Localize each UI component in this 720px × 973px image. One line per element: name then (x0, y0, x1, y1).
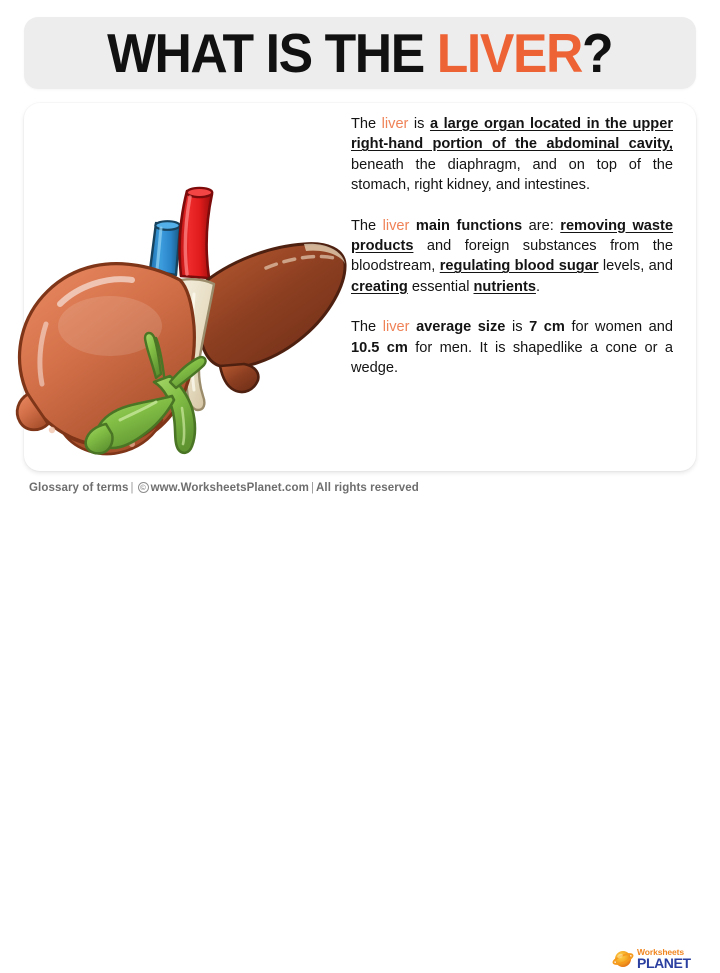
p1-s3: beneath the diaphragm, and on top of the… (351, 157, 673, 193)
p2-keyword-liver: liver (383, 218, 410, 234)
p1-s2: is (408, 116, 430, 132)
paragraph-size: The liver average size is 7 cm for women… (351, 317, 673, 378)
title-part-plain-1: WHAT IS THE (107, 22, 437, 84)
p2-underlined-nutrients: nutrients (474, 279, 536, 295)
content-card: The liver is a large organ located in th… (24, 103, 696, 471)
logo-word-worksheets: Worksheets (637, 948, 691, 957)
title-banner: WHAT IS THE LIVER? (24, 17, 696, 89)
p2-s6: essential (408, 279, 474, 295)
footer: Glossary of terms|©www.WorksheetsPlanet.… (0, 471, 720, 509)
portal-vein-icon (150, 221, 180, 275)
title-part-accent: LIVER (437, 22, 582, 84)
paragraph-functions: The liver main functions are: removing w… (351, 216, 673, 298)
p3-s4: for women and (565, 319, 673, 335)
p1-s1: The (351, 116, 382, 132)
footer-separator-1: | (129, 482, 136, 494)
footer-website[interactable]: www.WorksheetsPlanet.com (151, 482, 309, 494)
page-title: WHAT IS THE LIVER? (107, 26, 612, 81)
p2-s7: . (536, 279, 540, 295)
footer-glossary-label: Glossary of terms (29, 482, 129, 494)
p3-s1: The (351, 319, 383, 335)
p2-underlined-regulating-sugar: regulating blood sugar (440, 258, 599, 274)
p2-bold-main-functions: main functions (416, 218, 522, 234)
p3-s3: is (505, 319, 529, 335)
right-lobe (197, 244, 345, 392)
p3-bold-men-size: 10.5 cm (351, 340, 408, 356)
p3-keyword-liver: liver (383, 319, 410, 335)
description-text-column: The liver is a large organ located in th… (351, 114, 673, 378)
p3-bold-women-size: 7 cm (529, 319, 565, 335)
p2-underlined-creating: creating (351, 279, 408, 295)
logo-wordmark: Worksheets PLANET (637, 948, 691, 971)
p2-s5: levels, and (599, 258, 673, 274)
footer-credits: Glossary of terms|©www.WorksheetsPlanet.… (29, 482, 419, 494)
title-part-plain-2: ? (582, 22, 612, 84)
p2-s1: The (351, 218, 383, 234)
p1-keyword-liver: liver (382, 116, 409, 132)
footer-rights: All rights reserved (316, 482, 419, 494)
p3-bold-average-size: average size (416, 319, 505, 335)
inferior-vena-cava-icon (180, 188, 213, 278)
footer-separator-2: | (309, 482, 316, 494)
copyright-icon: © (138, 482, 149, 493)
paragraph-location: The liver is a large organ located in th… (351, 114, 673, 196)
liver-anatomy-illustration (4, 108, 364, 463)
planet-icon (612, 948, 634, 970)
logo-word-planet: PLANET (637, 956, 691, 970)
worksheets-planet-logo[interactable]: Worksheets PLANET (612, 945, 704, 973)
p2-s3: are: (522, 218, 560, 234)
